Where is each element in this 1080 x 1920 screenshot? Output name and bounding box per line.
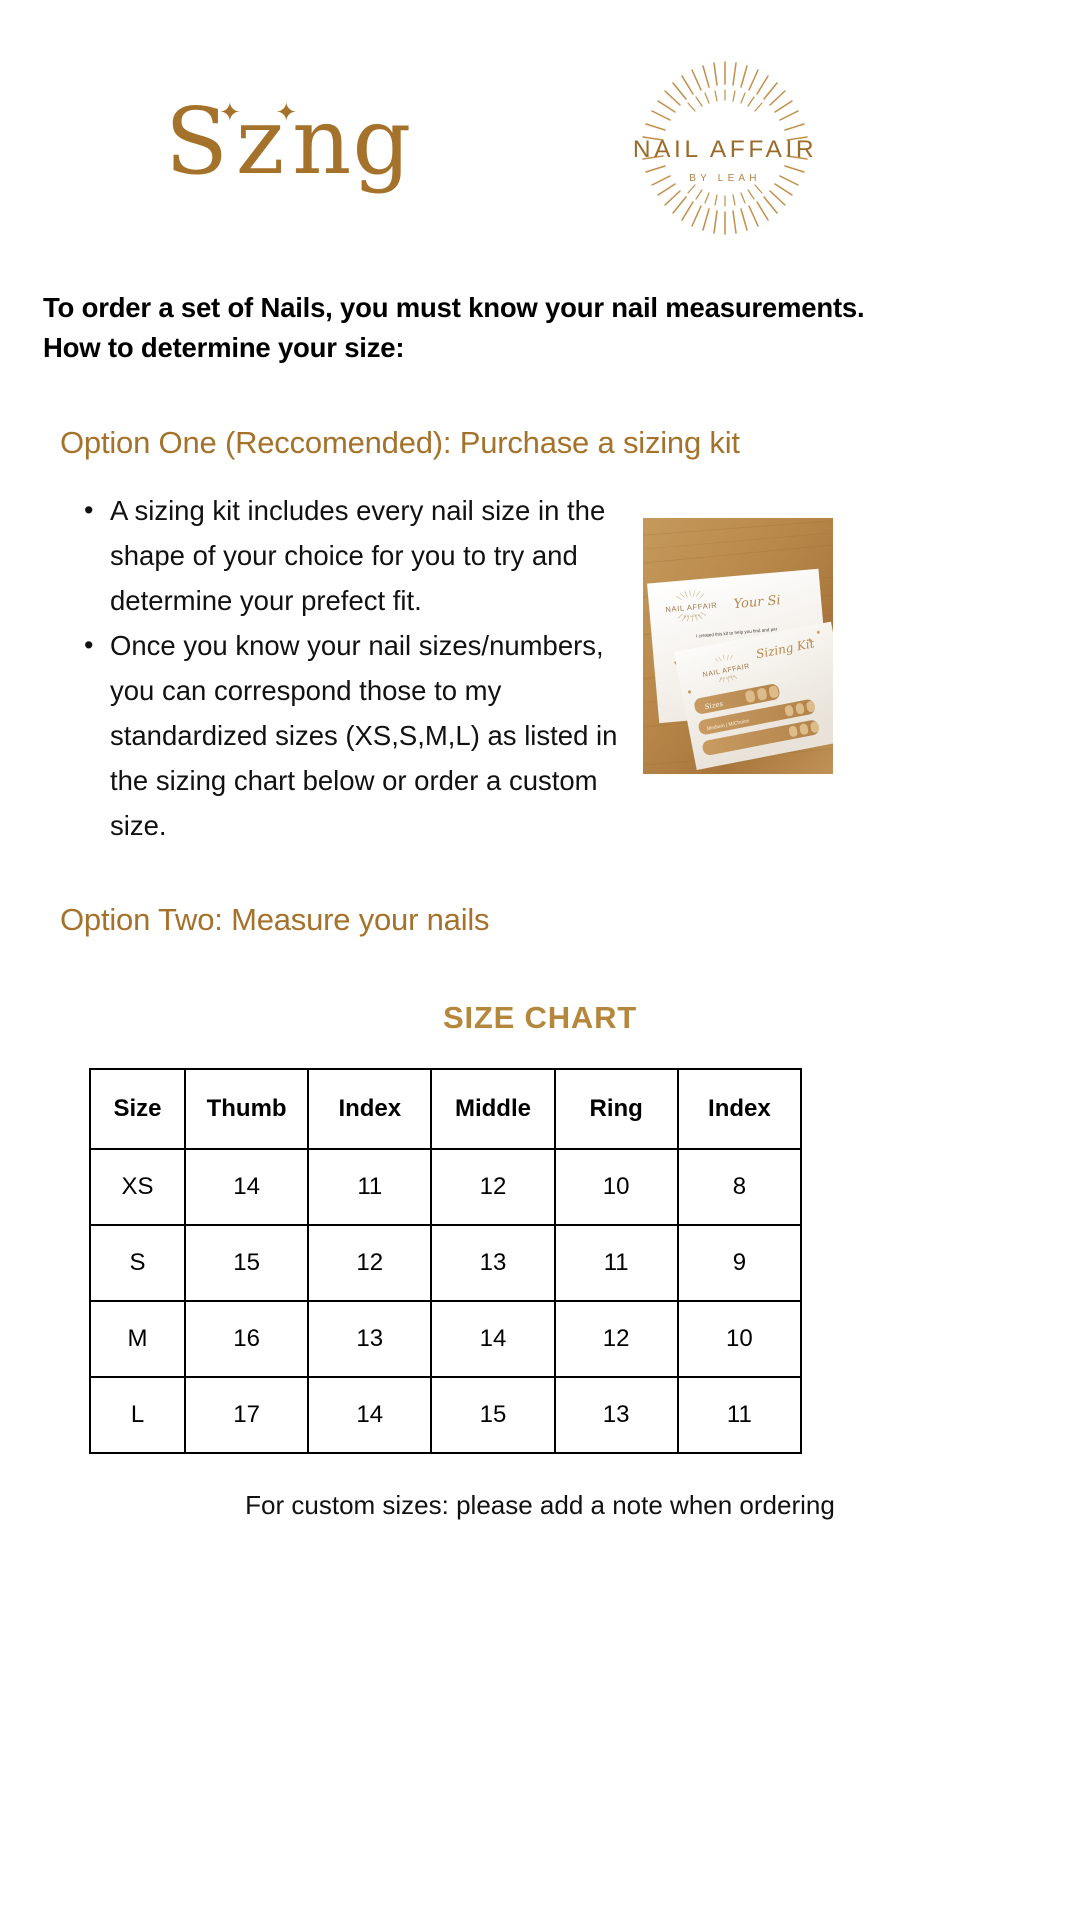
cell-thumb: 15: [185, 1225, 308, 1301]
cell-size: M: [90, 1301, 185, 1377]
cell-middle: 12: [431, 1149, 554, 1225]
cell-ring: 12: [555, 1301, 678, 1377]
list-item: Once you know your nail sizes/numbers, y…: [78, 623, 638, 848]
list-item: A sizing kit includes every nail size in…: [78, 488, 638, 623]
option-one-bullet-list: A sizing kit includes every nail size in…: [78, 488, 638, 848]
cell-thumb: 16: [185, 1301, 308, 1377]
table-header-row: Size Thumb Index Middle Ring Index: [90, 1069, 801, 1149]
cell-index: 14: [308, 1377, 431, 1453]
cell-size: L: [90, 1377, 185, 1453]
option-one-heading: Option One (Reccomended): Purchase a siz…: [60, 425, 740, 461]
page-title: S✦z✦ng: [165, 96, 412, 188]
brand-logo: NAIL AFFAIR BY LEAH: [612, 48, 838, 248]
sparkle-icon: ✦: [275, 98, 298, 128]
cell-ring: 11: [555, 1225, 678, 1301]
intro-text: To order a set of Nails, you must know y…: [43, 288, 1043, 368]
logo-name: NAIL AFFAIR: [612, 136, 838, 164]
cell-pinky: 10: [678, 1301, 801, 1377]
cell-middle: 15: [431, 1377, 554, 1453]
option-two-heading: Option Two: Measure your nails: [60, 902, 489, 938]
cell-ring: 13: [555, 1377, 678, 1453]
cell-middle: 14: [431, 1301, 554, 1377]
cell-middle: 13: [431, 1225, 554, 1301]
cell-size: S: [90, 1225, 185, 1301]
column-header-size: Size: [90, 1069, 185, 1149]
page-title-text: S✦z✦ng: [165, 88, 412, 195]
table-row: S 15 12 13 11 9: [90, 1225, 801, 1301]
cell-index: 12: [308, 1225, 431, 1301]
size-chart-table: Size Thumb Index Middle Ring Index XS 14…: [89, 1068, 802, 1454]
cell-thumb: 14: [185, 1149, 308, 1225]
cell-pinky: 9: [678, 1225, 801, 1301]
page-header: S✦z✦ng: [0, 0, 1080, 290]
column-header-ring: Ring: [555, 1069, 678, 1149]
column-header-index: Index: [308, 1069, 431, 1149]
custom-size-note: For custom sizes: please add a note when…: [0, 1490, 1080, 1521]
intro-line-1: To order a set of Nails, you must know y…: [43, 288, 1043, 328]
cell-ring: 10: [555, 1149, 678, 1225]
sizing-kit-photo: NAIL AFFAIR BY LEAH Your Si I created th…: [643, 518, 833, 774]
cell-index: 11: [308, 1149, 431, 1225]
size-chart-title: SIZE CHART: [0, 1000, 1080, 1036]
table-row: M 16 13 14 12 10: [90, 1301, 801, 1377]
column-header-thumb: Thumb: [185, 1069, 308, 1149]
sparkle-icon: ✦: [219, 98, 242, 128]
cell-index: 13: [308, 1301, 431, 1377]
column-header-pinky: Index: [678, 1069, 801, 1149]
logo-subtitle: BY LEAH: [612, 173, 838, 184]
cell-size: XS: [90, 1149, 185, 1225]
cell-pinky: 11: [678, 1377, 801, 1453]
table-row: XS 14 11 12 10 8: [90, 1149, 801, 1225]
cell-pinky: 8: [678, 1149, 801, 1225]
column-header-middle: Middle: [431, 1069, 554, 1149]
cell-thumb: 17: [185, 1377, 308, 1453]
table-row: L 17 14 15 13 11: [90, 1377, 801, 1453]
intro-line-2: How to determine your size:: [43, 328, 1043, 368]
